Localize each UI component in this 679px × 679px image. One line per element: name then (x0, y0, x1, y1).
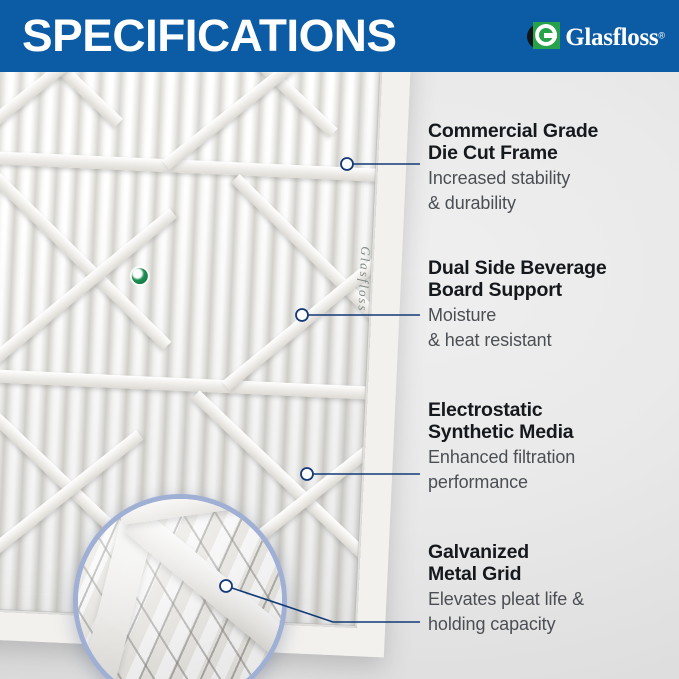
callout-title: Commercial Grade Die Cut Frame (428, 120, 678, 164)
magnified-detail-circle (73, 494, 287, 679)
page-title: SPECIFICATIONS (22, 13, 397, 58)
callout-subtitle: Moisture & heat resistant (428, 303, 678, 353)
callout-galvanized-metal-grid: Galvanized Metal Grid Elevates pleat lif… (428, 541, 678, 637)
logo-g-crossbar (544, 33, 557, 38)
registered-trademark-symbol: ® (658, 30, 665, 40)
glasfloss-g-logo-icon (527, 22, 561, 52)
callout-subtitle: Elevates pleat life & holding capacity (428, 587, 678, 637)
glasfloss-logo: Glasfloss® (527, 20, 665, 54)
magnifier-contents (73, 494, 287, 679)
callout-subtitle: Increased stability & durability (428, 166, 678, 216)
magnifier-glass-shading (73, 494, 287, 679)
callout-subtitle: Enhanced filtration performance (428, 445, 678, 495)
callout-title: Electrostatic Synthetic Media (428, 399, 678, 443)
callout-title: Dual Side Beverage Board Support (428, 257, 678, 301)
callout-dual-side-beverage-board-support: Dual Side Beverage Board Support Moistur… (428, 257, 678, 353)
brand-name-text: Glasfloss (565, 24, 658, 51)
frame-brand-print: Glasfloss (354, 246, 373, 313)
header-banner: SPECIFICATIONS Glasfloss® (0, 0, 679, 72)
specifications-infographic: Glasfloss Commercial Grade Die Cut Fr (0, 0, 679, 679)
callout-electrostatic-synthetic-media: Electrostatic Synthetic Media Enhanced f… (428, 399, 678, 495)
callout-title: Galvanized Metal Grid (428, 541, 678, 585)
callout-commercial-grade-die-cut-frame: Commercial Grade Die Cut Frame Increased… (428, 120, 678, 216)
brand-wordmark: Glasfloss® (565, 25, 665, 50)
